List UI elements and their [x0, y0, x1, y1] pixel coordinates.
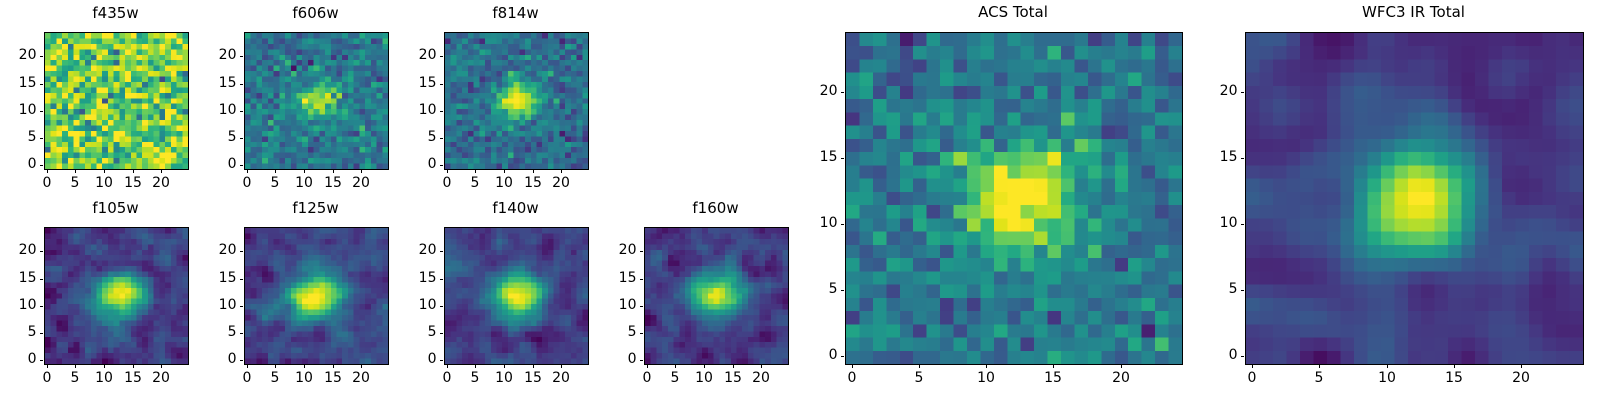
ytick-f105w-4 [40, 251, 44, 252]
ytick-label-f125w-0: 0 [164, 352, 237, 366]
panel-title-f105w: f105w [44, 201, 187, 216]
axes-acs-total[interactable] [845, 32, 1183, 365]
ytick-f160w-2 [640, 306, 644, 307]
ytick-acs-total-4 [841, 92, 845, 93]
xtick-acs-total-2 [986, 364, 987, 368]
panel-f160w: f160w0510152005101520 [644, 0, 787, 400]
ytick-label-acs-total-2: 10 [765, 216, 838, 230]
xtick-label-acs-total-1: 5 [889, 371, 949, 385]
xtick-wfc3-ir-total-0 [1252, 364, 1253, 368]
ytick-f814w-1 [440, 138, 444, 139]
xtick-f140w-4 [561, 364, 562, 368]
ytick-f606w-3 [240, 84, 244, 85]
panel-title-f125w: f125w [244, 201, 387, 216]
xtick-label-f105w-4: 20 [131, 371, 191, 385]
xtick-label-wfc3-ir-total-0: 0 [1222, 371, 1282, 385]
ytick-label-wfc3-ir-total-1: 5 [1165, 282, 1238, 296]
xtick-wfc3-ir-total-4 [1521, 364, 1522, 368]
ytick-label-f435w-3: 15 [0, 76, 37, 90]
xtick-f125w-1 [275, 364, 276, 368]
ytick-f105w-2 [40, 306, 44, 307]
ytick-f140w-2 [440, 306, 444, 307]
xtick-label-wfc3-ir-total-1: 5 [1289, 371, 1349, 385]
ytick-f140w-3 [440, 279, 444, 280]
ytick-f140w-4 [440, 251, 444, 252]
heatmap-image-wfc3-ir-total [1246, 33, 1583, 364]
xtick-label-f125w-4: 20 [331, 371, 391, 385]
ytick-f105w-1 [40, 333, 44, 334]
figure-canvas: f435w0510152005101520f606w05101520051015… [0, 0, 1600, 400]
ytick-f606w-2 [240, 111, 244, 112]
xtick-f160w-2 [704, 364, 705, 368]
xtick-f160w-3 [733, 364, 734, 368]
xtick-f105w-4 [161, 364, 162, 368]
xtick-label-acs-total-0: 0 [822, 371, 882, 385]
ytick-label-f125w-1: 5 [164, 325, 237, 339]
ytick-label-f435w-2: 10 [0, 103, 37, 117]
ytick-f435w-3 [40, 84, 44, 85]
ytick-label-f105w-3: 15 [0, 271, 37, 285]
ytick-f606w-4 [240, 56, 244, 57]
ytick-acs-total-3 [841, 158, 845, 159]
panel-acs-total: ACS Total0510152005101520 [845, 0, 1181, 400]
xtick-f105w-3 [133, 364, 134, 368]
xtick-wfc3-ir-total-2 [1387, 364, 1388, 368]
panel-title-wfc3-ir-total: WFC3 IR Total [1245, 5, 1582, 20]
panel-title-f140w: f140w [444, 201, 587, 216]
ytick-label-f160w-3: 15 [564, 271, 637, 285]
xtick-f140w-2 [504, 364, 505, 368]
ytick-label-f160w-0: 0 [564, 352, 637, 366]
ytick-label-f125w-4: 20 [164, 243, 237, 257]
ytick-label-f160w-1: 5 [564, 325, 637, 339]
xtick-f125w-0 [247, 364, 248, 368]
ytick-wfc3-ir-total-0 [1241, 356, 1245, 357]
ytick-label-acs-total-1: 5 [765, 282, 838, 296]
ytick-f160w-0 [640, 360, 644, 361]
xtick-f160w-0 [647, 364, 648, 368]
xtick-label-acs-total-3: 15 [1023, 371, 1083, 385]
ytick-f814w-4 [440, 56, 444, 57]
ytick-label-f140w-0: 0 [364, 352, 437, 366]
ytick-label-wfc3-ir-total-3: 15 [1165, 150, 1238, 164]
ytick-f160w-1 [640, 333, 644, 334]
ytick-f160w-4 [640, 251, 644, 252]
ytick-f125w-2 [240, 306, 244, 307]
panel-title-f160w: f160w [644, 201, 787, 216]
xtick-f125w-2 [304, 364, 305, 368]
ytick-label-f125w-3: 15 [164, 271, 237, 285]
panel-title-acs-total: ACS Total [845, 5, 1181, 20]
ytick-label-f435w-0: 0 [0, 157, 37, 171]
ytick-label-acs-total-0: 0 [765, 348, 838, 362]
xtick-wfc3-ir-total-1 [1319, 364, 1320, 368]
ytick-label-f140w-1: 5 [364, 325, 437, 339]
ytick-f435w-4 [40, 56, 44, 57]
ytick-wfc3-ir-total-1 [1241, 290, 1245, 291]
panel-f125w: f125w0510152005101520 [244, 0, 387, 400]
xtick-acs-total-1 [919, 364, 920, 368]
ytick-acs-total-0 [841, 356, 845, 357]
ytick-f435w-0 [40, 165, 44, 166]
ytick-label-f105w-0: 0 [0, 352, 37, 366]
ytick-label-f140w-2: 10 [364, 298, 437, 312]
ytick-label-f160w-4: 20 [564, 243, 637, 257]
ytick-label-f105w-1: 5 [0, 325, 37, 339]
panel-f140w: f140w0510152005101520 [444, 0, 587, 400]
ytick-f125w-4 [240, 251, 244, 252]
xtick-f125w-3 [333, 364, 334, 368]
xtick-label-f140w-4: 20 [531, 371, 591, 385]
axes-wfc3-ir-total[interactable] [1245, 32, 1584, 365]
xtick-acs-total-0 [852, 364, 853, 368]
xtick-f160w-4 [761, 364, 762, 368]
ytick-label-f160w-2: 10 [564, 298, 637, 312]
ytick-label-wfc3-ir-total-2: 10 [1165, 216, 1238, 230]
ytick-f814w-2 [440, 111, 444, 112]
ytick-f140w-0 [440, 360, 444, 361]
xtick-label-wfc3-ir-total-4: 20 [1491, 371, 1551, 385]
xtick-f140w-1 [475, 364, 476, 368]
ytick-label-f435w-4: 20 [0, 48, 37, 62]
ytick-label-f105w-2: 10 [0, 298, 37, 312]
ytick-wfc3-ir-total-4 [1241, 92, 1245, 93]
ytick-label-acs-total-3: 15 [765, 150, 838, 164]
xtick-label-acs-total-4: 20 [1091, 371, 1151, 385]
ytick-label-acs-total-4: 20 [765, 84, 838, 98]
axes-f160w[interactable] [644, 227, 789, 365]
ytick-f125w-1 [240, 333, 244, 334]
ytick-acs-total-1 [841, 290, 845, 291]
panel-wfc3-ir-total: WFC3 IR Total0510152005101520 [1245, 0, 1582, 400]
xtick-f140w-3 [533, 364, 534, 368]
ytick-acs-total-2 [841, 224, 845, 225]
xtick-f105w-0 [47, 364, 48, 368]
xtick-acs-total-3 [1053, 364, 1054, 368]
ytick-label-wfc3-ir-total-4: 20 [1165, 84, 1238, 98]
ytick-label-f435w-1: 5 [0, 130, 37, 144]
ytick-wfc3-ir-total-2 [1241, 224, 1245, 225]
xtick-acs-total-4 [1121, 364, 1122, 368]
ytick-label-f125w-2: 10 [164, 298, 237, 312]
ytick-f140w-1 [440, 333, 444, 334]
xtick-f105w-1 [75, 364, 76, 368]
heatmap-image-f160w [645, 228, 788, 364]
xtick-label-wfc3-ir-total-2: 10 [1357, 371, 1417, 385]
ytick-f435w-2 [40, 111, 44, 112]
ytick-f606w-0 [240, 165, 244, 166]
xtick-f125w-4 [361, 364, 362, 368]
panel-f105w: f105w0510152005101520 [44, 0, 187, 400]
ytick-f606w-1 [240, 138, 244, 139]
ytick-f160w-3 [640, 279, 644, 280]
ytick-label-wfc3-ir-total-0: 0 [1165, 348, 1238, 362]
ytick-f435w-1 [40, 138, 44, 139]
ytick-wfc3-ir-total-3 [1241, 158, 1245, 159]
xtick-label-f160w-4: 20 [731, 371, 791, 385]
xtick-label-wfc3-ir-total-3: 15 [1424, 371, 1484, 385]
xtick-f105w-2 [104, 364, 105, 368]
ytick-label-f105w-4: 20 [0, 243, 37, 257]
ytick-f125w-0 [240, 360, 244, 361]
ytick-label-f140w-3: 15 [364, 271, 437, 285]
xtick-label-acs-total-2: 10 [956, 371, 1016, 385]
ytick-f105w-0 [40, 360, 44, 361]
ytick-f814w-0 [440, 165, 444, 166]
xtick-f140w-0 [447, 364, 448, 368]
xtick-wfc3-ir-total-3 [1454, 364, 1455, 368]
ytick-f814w-3 [440, 84, 444, 85]
ytick-f125w-3 [240, 279, 244, 280]
ytick-label-f140w-4: 20 [364, 243, 437, 257]
xtick-f160w-1 [675, 364, 676, 368]
ytick-f105w-3 [40, 279, 44, 280]
heatmap-image-acs-total [846, 33, 1182, 364]
